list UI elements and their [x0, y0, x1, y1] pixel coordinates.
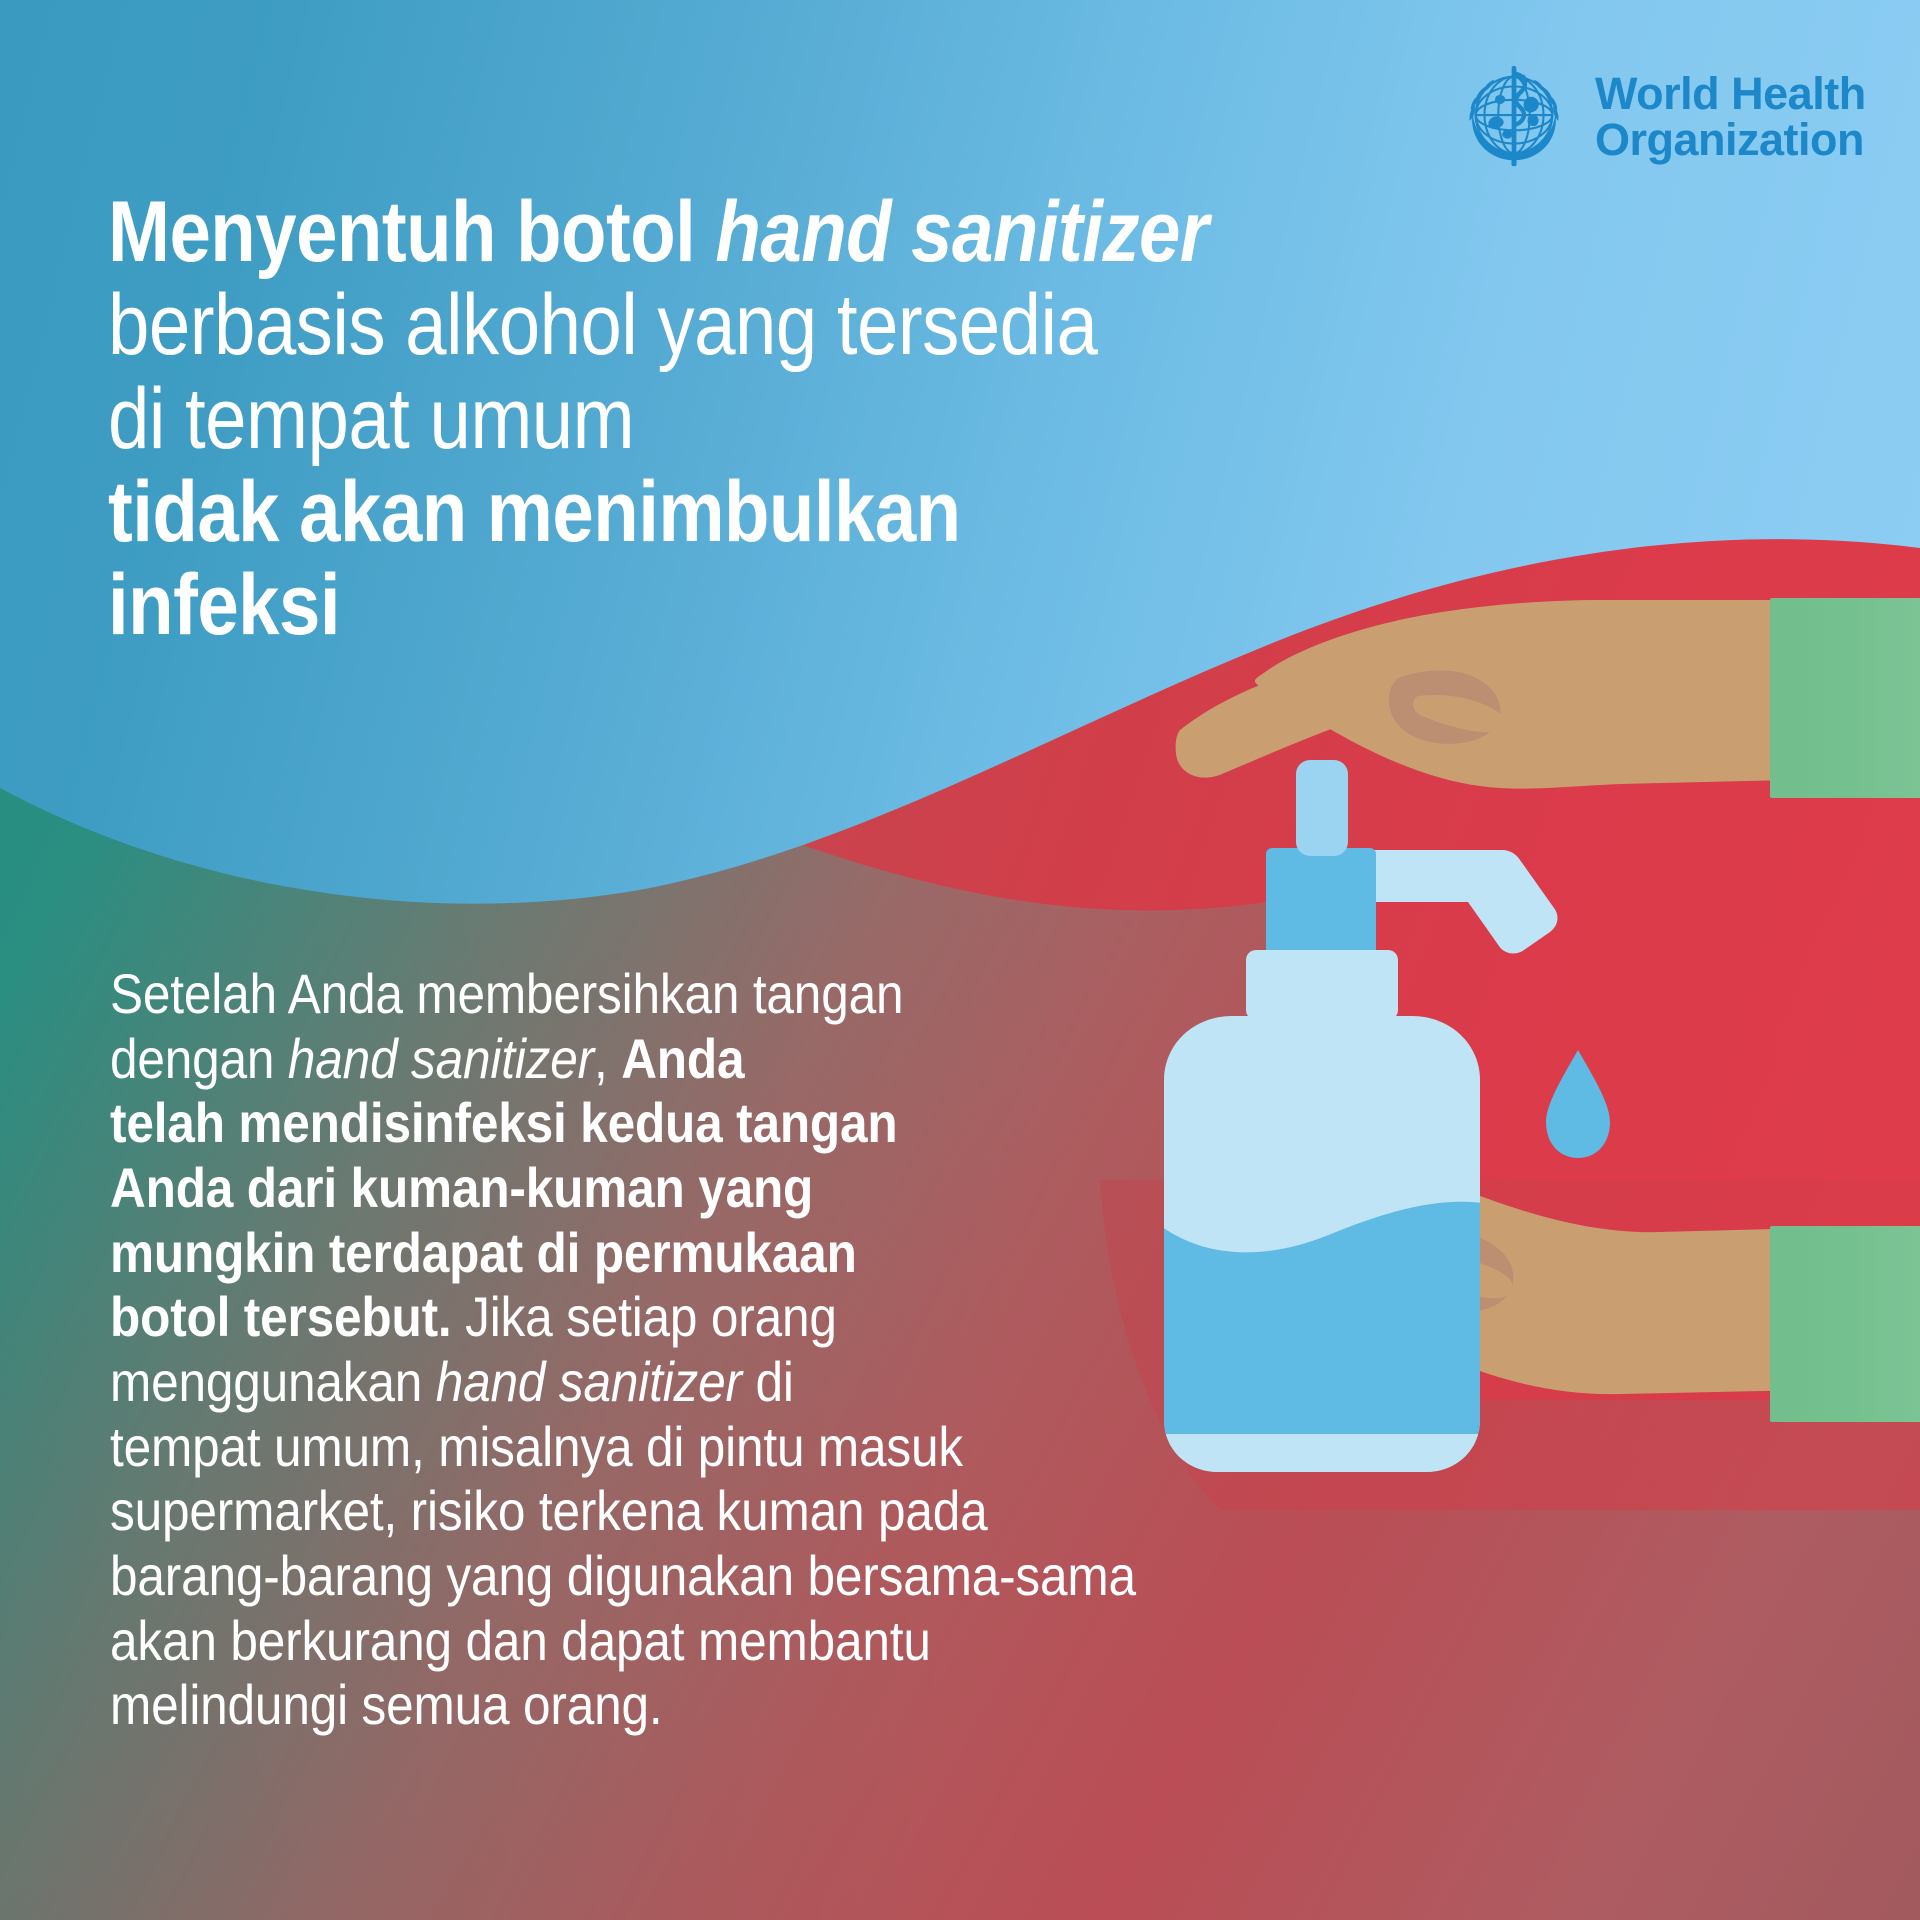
body-line-2-a: dengan: [110, 1027, 288, 1090]
body-line-6-bold: botol tersebut.: [110, 1285, 452, 1348]
who-logo-wordmark: World Health Organization: [1595, 71, 1866, 163]
who-logo: World Health Organization: [1455, 58, 1866, 176]
hand-pressing-pump: [1176, 600, 1790, 789]
who-logo-line-1: World Health: [1595, 68, 1866, 119]
body-line-2-bold: Anda: [621, 1027, 744, 1090]
headline-line-5: infeksi: [108, 559, 1258, 652]
sanitizer-drop: [1546, 1050, 1610, 1158]
body-line-7: menggunakan hand sanitizer di: [110, 1350, 1207, 1415]
headline-line-2: berbasis alkohol yang tersedia: [108, 279, 1258, 372]
pump-nozzle: [1372, 850, 1557, 953]
body-copy: Setelah Anda membersihkan tangan dengan …: [110, 962, 1207, 1738]
body-line-4: Anda dari kuman-kuman yang: [110, 1156, 1207, 1221]
body-line-6-reg: Jika setiap orang: [452, 1285, 837, 1348]
body-line-5: mungkin terdapat di permukaan: [110, 1221, 1207, 1286]
body-line-10: barang-barang yang digunakan bersama-sam…: [110, 1544, 1207, 1609]
body-line-12: melindungi semua orang.: [110, 1673, 1207, 1738]
who-logo-line-2: Organization: [1595, 114, 1864, 165]
headline-line-1-emphasis: hand sanitizer: [715, 184, 1208, 280]
body-line-2-italic: hand sanitizer: [288, 1027, 594, 1090]
headline-line-3: di tempat umum: [108, 373, 1258, 466]
headline-line-1: Menyentuh botol hand sanitizer: [108, 186, 1258, 279]
body-line-7-italic: hand sanitizer: [436, 1350, 742, 1413]
body-line-7-b: di: [742, 1350, 794, 1413]
body-line-11: akan berkurang dan dapat membantu: [110, 1609, 1207, 1674]
body-line-8: tempat umum, misalnya di pintu masuk: [110, 1415, 1207, 1480]
headline: Menyentuh botol hand sanitizer berbasis …: [108, 186, 1258, 652]
who-infographic-poster: World Health Organization Menyentuh boto…: [0, 0, 1920, 1920]
headline-line-4: tidak akan menimbulkan: [108, 466, 1258, 559]
who-emblem-icon: [1455, 58, 1573, 176]
body-line-1: Setelah Anda membersihkan tangan: [110, 962, 1207, 1027]
headline-line-1-text: Menyentuh botol: [108, 184, 715, 280]
hand-sanitizer-dispenser-illustration: [1150, 560, 1920, 1580]
body-line-2: dengan hand sanitizer, Anda: [110, 1027, 1207, 1092]
body-line-9: supermarket, risiko terkena kuman pada: [110, 1479, 1207, 1544]
body-line-3: telah mendisinfeksi kedua tangan: [110, 1091, 1207, 1156]
body-line-6: botol tersebut. Jika setiap orang: [110, 1285, 1207, 1350]
body-line-2-b: ,: [594, 1027, 621, 1090]
body-line-7-a: menggunakan: [110, 1350, 436, 1413]
